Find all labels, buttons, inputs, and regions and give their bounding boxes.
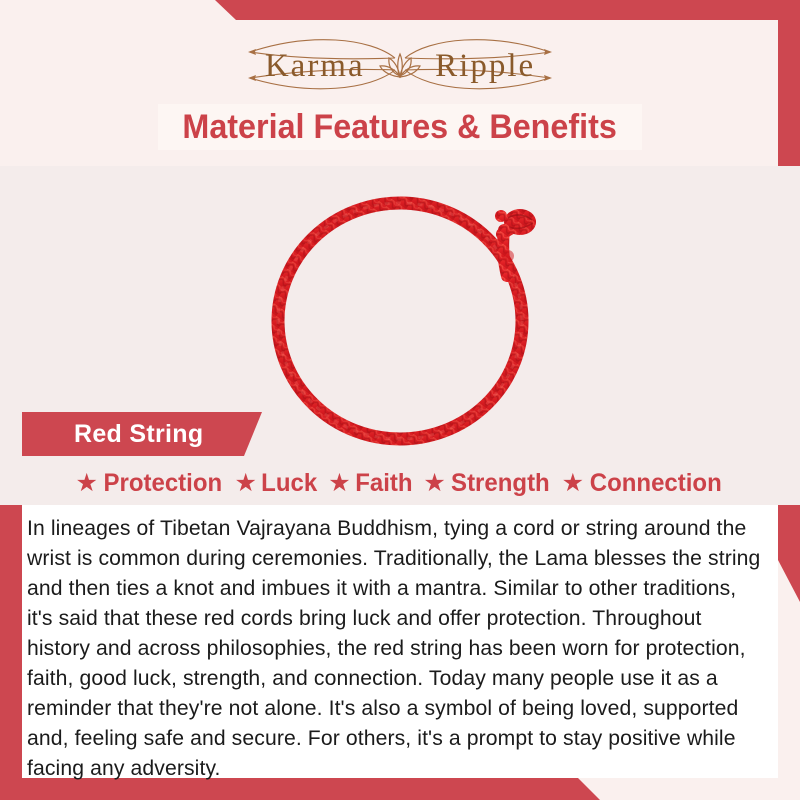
decor-top-band [0,0,800,20]
description-text: In lineages of Tibetan Vajrayana Buddhis… [27,513,764,783]
feature-benefit-list: ★ Protection ★ Luck ★ Faith ★ Strength ★… [22,462,778,504]
feature-label: Strength [451,469,550,498]
lotus-icon [377,49,423,86]
feature-item-faith: ★ Faith [328,469,413,498]
logo-text: Karma Ripple [263,46,537,83]
material-ribbon: Red String [22,412,262,456]
feature-item-strength: ★ Strength [423,469,551,498]
star-icon: ★ [423,471,445,496]
feature-label: Luck [261,469,317,498]
feature-item-protection: ★ Protection [75,469,224,498]
logo-word-ripple: Ripple [433,48,537,84]
brand-logo: Karma Ripple [0,34,800,94]
feature-item-connection: ★ Connection [562,469,725,498]
description-panel: In lineages of Tibetan Vajrayana Buddhis… [22,505,778,778]
feature-label: Faith [355,469,412,498]
infographic-page: Karma Ripple Material Fea [0,0,800,800]
star-icon: ★ [235,471,257,496]
star-icon: ★ [75,471,97,496]
material-name: Red String [74,420,203,449]
star-icon: ★ [562,471,584,496]
product-image-red-string-bracelet [252,178,552,458]
feature-item-luck: ★ Luck [235,469,319,498]
title-band: Material Features & Benefits [158,104,642,150]
feature-label: Protection [103,469,222,498]
feature-label: Connection [590,469,722,498]
star-icon: ★ [328,471,350,496]
logo-word-karma: Karma [263,48,367,84]
page-title: Material Features & Benefits [183,108,617,147]
